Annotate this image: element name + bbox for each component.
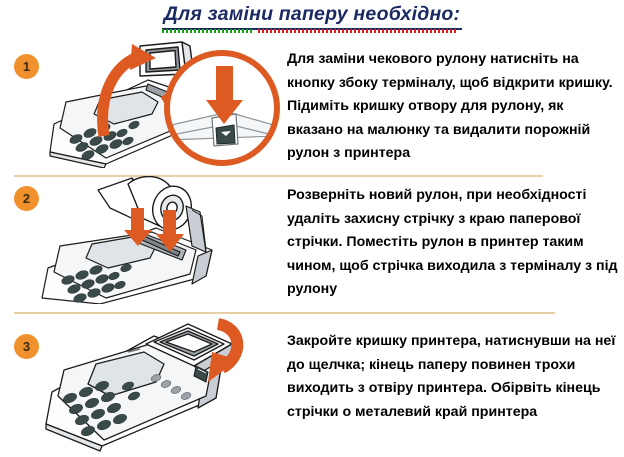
illustration-step-1 bbox=[36, 40, 284, 168]
pos-terminal-open-lid-with-callout-svg bbox=[36, 40, 284, 168]
illustration-step-3 bbox=[36, 312, 284, 452]
instruction-step-2: 2 bbox=[0, 176, 624, 304]
instruction-step-1: 1 bbox=[0, 40, 624, 168]
spellcheck-squiggle-red bbox=[258, 29, 458, 33]
instruction-step-3: 3 bbox=[0, 312, 624, 452]
pos-terminal-close-lid-svg bbox=[36, 312, 284, 452]
orange-magnifier-circle bbox=[164, 53, 277, 163]
spellcheck-squiggle-green bbox=[162, 29, 254, 33]
step-2-instruction-text: Розверніть новий рулон, при необхідності… bbox=[287, 184, 619, 302]
pos-terminal-insert-paper-roll-svg bbox=[36, 176, 284, 304]
step-3-instruction-text: Закройте кришку принтера, натиснувши на … bbox=[287, 330, 619, 424]
illustration-step-2 bbox=[36, 176, 284, 304]
page-header: Для заміни паперу необхідно: bbox=[0, 2, 624, 30]
page-title-text: Для заміни паперу необхідно: bbox=[164, 3, 461, 25]
step-1-instruction-text: Для заміни чекового рулону натисніть на … bbox=[287, 48, 619, 166]
page-title: Для заміни паперу необхідно: bbox=[162, 2, 463, 30]
